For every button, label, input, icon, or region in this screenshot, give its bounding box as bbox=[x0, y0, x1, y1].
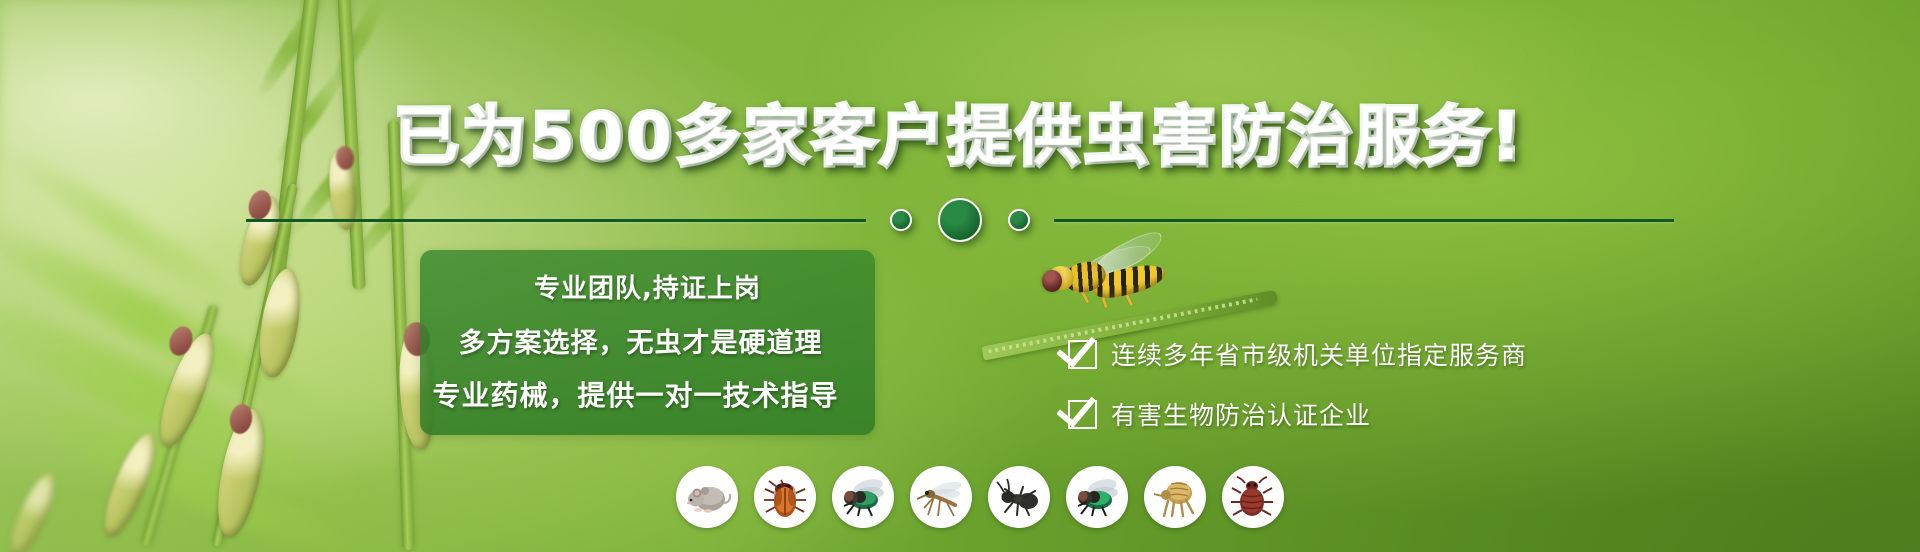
divider-dot-small-icon bbox=[890, 209, 912, 231]
cockroach-icon bbox=[754, 466, 816, 528]
selling-point-line-3: 专业药械，提供一对一技术指导 bbox=[396, 374, 875, 414]
pest-control-banner: 已为500多家客户提供虫害防治服务! 专业团队,持证上岗 多方案选择，无虫才是硬… bbox=[0, 0, 1920, 552]
checkbox-check-icon bbox=[1068, 400, 1097, 429]
selling-points-panel: 专业团队,持证上岗 多方案选择，无虫才是硬道理 专业药械，提供一对一技术指导 bbox=[420, 250, 875, 435]
checkbox-check-icon bbox=[1068, 340, 1097, 369]
hoverfly-on-grass-blade bbox=[1040, 248, 1170, 320]
plant-flower-spike bbox=[254, 266, 307, 380]
divider-line-left bbox=[246, 219, 866, 222]
mouse-icon bbox=[676, 466, 738, 528]
fly-icon bbox=[832, 466, 894, 528]
selling-point-line-1: 专业团队,持证上岗 bbox=[420, 268, 875, 305]
bedbug-icon bbox=[1222, 466, 1284, 528]
list-item: 有害生物防治认证企业 bbox=[1068, 396, 1527, 432]
banner-headline-text: 已为500多家客户提供虫害防治服务! bbox=[395, 86, 1526, 178]
banner-headline: 已为500多家客户提供虫害防治服务! bbox=[0, 86, 1920, 178]
selling-point-line-2: 多方案选择，无虫才是硬道理 bbox=[406, 321, 875, 360]
divider-dot-group bbox=[866, 198, 1054, 242]
blowfly-icon bbox=[1066, 466, 1128, 528]
divider-dot-large-icon bbox=[938, 198, 982, 242]
divider-line-right bbox=[1054, 219, 1674, 222]
list-item: 连续多年省市级机关单位指定服务商 bbox=[1068, 336, 1527, 372]
credential-label: 有害生物防治认证企业 bbox=[1111, 396, 1371, 432]
ant-icon bbox=[988, 466, 1050, 528]
credential-label: 连续多年省市级机关单位指定服务商 bbox=[1111, 336, 1527, 372]
mosquito-icon bbox=[910, 466, 972, 528]
decorative-divider bbox=[0, 195, 1920, 245]
pest-icon-row bbox=[676, 466, 1284, 528]
plant-flower-spike bbox=[3, 469, 63, 552]
credentials-checklist: 连续多年省市级机关单位指定服务商 有害生物防治认证企业 bbox=[1068, 336, 1527, 432]
flea-icon bbox=[1144, 466, 1206, 528]
divider-dot-small-icon bbox=[1008, 209, 1030, 231]
hoverfly-eye bbox=[1042, 270, 1062, 292]
